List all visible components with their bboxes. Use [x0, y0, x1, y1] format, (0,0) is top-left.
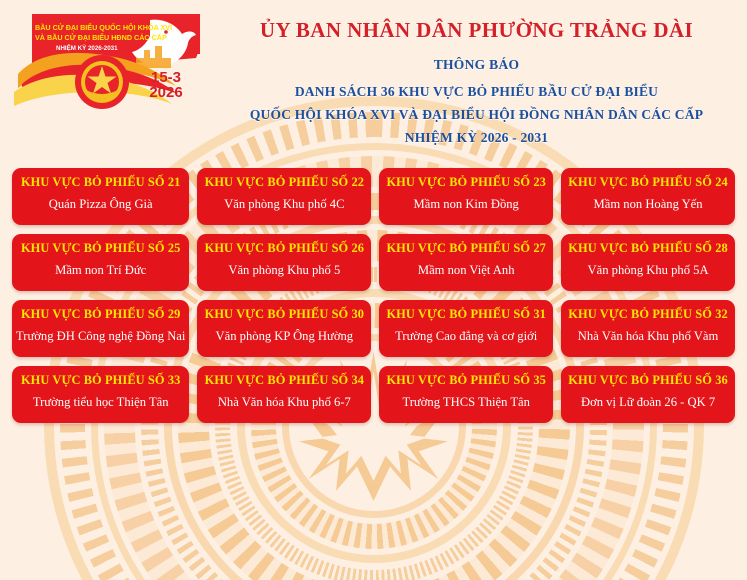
election-emblem-graphic: BẦU CỬ ĐẠI BIỂU QUỐC HỘI KHÓA XVI VÀ BẦU… [0, 0, 208, 120]
polling-station-number: KHU VỰC BỎ PHIẾU SỐ 27 [383, 241, 549, 255]
polling-station-card[interactable]: KHU VỰC BỎ PHIẾU SỐ 31Trường Cao đẳng và… [379, 300, 553, 357]
polling-station-location: Trường THCS Thiện Tân [383, 395, 549, 410]
polling-station-card[interactable]: KHU VỰC BỎ PHIẾU SỐ 26Văn phòng Khu phố … [197, 234, 371, 291]
polling-station-number: KHU VỰC BỎ PHIẾU SỐ 30 [201, 307, 367, 321]
polling-station-number: KHU VỰC BỎ PHIẾU SỐ 36 [565, 373, 731, 387]
polling-station-location: Văn phòng KP Ông Hường [201, 329, 367, 344]
subtitle-line-3: NHIỆM KỲ 2026 - 2031 [212, 130, 741, 146]
polling-station-card[interactable]: KHU VỰC BỎ PHIẾU SỐ 32Nhà Văn hóa Khu ph… [561, 300, 735, 357]
polling-station-number: KHU VỰC BỎ PHIẾU SỐ 28 [565, 241, 731, 255]
logo-line-2: VÀ BẦU CỬ ĐẠI BIỂU HĐND CÁC CẤP [35, 32, 167, 42]
polling-station-location: Trường tiểu học Thiện Tân [16, 395, 185, 410]
polling-station-location: Trường Cao đẳng và cơ giới [383, 329, 549, 344]
header-titles: ỦY BAN NHÂN DÂN PHƯỜNG TRẢNG DÀI THÔNG B… [212, 18, 741, 146]
polling-station-location: Mầm non Việt Anh [383, 263, 549, 278]
polling-station-location: Nhà Văn hóa Khu phố 6-7 [201, 395, 367, 410]
polling-station-card[interactable]: KHU VỰC BỎ PHIẾU SỐ 23Mầm non Kim Đồng [379, 168, 553, 225]
polling-station-number: KHU VỰC BỎ PHIẾU SỐ 32 [565, 307, 731, 321]
polling-station-card[interactable]: KHU VỰC BỎ PHIẾU SỐ 28Văn phòng Khu phố … [561, 234, 735, 291]
polling-station-card[interactable]: KHU VỰC BỎ PHIẾU SỐ 36Đơn vị Lữ đoàn 26 … [561, 366, 735, 423]
polling-station-location: Văn phòng Khu phố 5A [565, 263, 731, 278]
polling-station-location: Văn phòng Khu phố 5 [201, 263, 367, 278]
poster-header: BẦU CỬ ĐẠI BIỂU QUỐC HỘI KHÓA XVI VÀ BẦU… [0, 0, 747, 168]
polling-station-number: KHU VỰC BỎ PHIẾU SỐ 35 [383, 373, 549, 387]
logo-line-1: BẦU CỬ ĐẠI BIỂU QUỐC HỘI KHÓA XVI [35, 22, 172, 32]
polling-station-number: KHU VỰC BỎ PHIẾU SỐ 29 [16, 307, 185, 321]
polling-station-grid: KHU VỰC BỎ PHIẾU SỐ 21Quán Pizza Ông Già… [6, 168, 741, 423]
authority-title: ỦY BAN NHÂN DÂN PHƯỜNG TRẢNG DÀI [212, 18, 741, 44]
subtitle-line-1: DANH SÁCH 36 KHU VỰC BỎ PHIẾU BẦU CỬ ĐẠI… [212, 84, 741, 100]
polling-station-location: Đơn vị Lữ đoàn 26 - QK 7 [565, 395, 731, 410]
polling-station-card[interactable]: KHU VỰC BỎ PHIẾU SỐ 24Mầm non Hoàng Yến [561, 168, 735, 225]
polling-station-card[interactable]: KHU VỰC BỎ PHIẾU SỐ 34Nhà Văn hóa Khu ph… [197, 366, 371, 423]
polling-station-location: Quán Pizza Ông Già [16, 197, 185, 212]
polling-station-number: KHU VỰC BỎ PHIẾU SỐ 24 [565, 175, 731, 189]
polling-station-card[interactable]: KHU VỰC BỎ PHIẾU SỐ 21Quán Pizza Ông Già [12, 168, 189, 225]
polling-station-number: KHU VỰC BỎ PHIẾU SỐ 26 [201, 241, 367, 255]
election-date-year: 2026 [149, 84, 182, 101]
polling-station-card[interactable]: KHU VỰC BỎ PHIẾU SỐ 35Trường THCS Thiện … [379, 366, 553, 423]
polling-station-card[interactable]: KHU VỰC BỎ PHIẾU SỐ 30Văn phòng KP Ông H… [197, 300, 371, 357]
polling-station-number: KHU VỰC BỎ PHIẾU SỐ 25 [16, 241, 185, 255]
election-notice-poster: BẦU CỬ ĐẠI BIỂU QUỐC HỘI KHÓA XVI VÀ BẦU… [0, 0, 747, 580]
polling-station-number: KHU VỰC BỎ PHIẾU SỐ 21 [16, 175, 185, 189]
polling-station-number: KHU VỰC BỎ PHIẾU SỐ 31 [383, 307, 549, 321]
polling-station-location: Trường ĐH Công nghệ Đồng Nai [16, 329, 185, 344]
polling-station-card[interactable]: KHU VỰC BỎ PHIẾU SỐ 33Trường tiểu học Th… [12, 366, 189, 423]
polling-station-card[interactable]: KHU VỰC BỎ PHIẾU SỐ 22Văn phòng Khu phố … [197, 168, 371, 225]
polling-station-card[interactable]: KHU VỰC BỎ PHIẾU SỐ 25Mầm non Trí Đức [12, 234, 189, 291]
polling-station-card[interactable]: KHU VỰC BỎ PHIẾU SỐ 27Mầm non Việt Anh [379, 234, 553, 291]
notice-label: THÔNG BÁO [212, 57, 741, 73]
polling-station-number: KHU VỰC BỎ PHIẾU SỐ 22 [201, 175, 367, 189]
polling-station-number: KHU VỰC BỎ PHIẾU SỐ 34 [201, 373, 367, 387]
polling-station-location: Mầm non Kim Đồng [383, 197, 549, 212]
election-logo-badge: BẦU CỬ ĐẠI BIỂU QUỐC HỘI KHÓA XVI VÀ BẦU… [0, 0, 208, 120]
logo-line-3: NHIỆM KỲ 2026-2031 [56, 44, 118, 52]
polling-station-card[interactable]: KHU VỰC BỎ PHIẾU SỐ 29Trường ĐH Công ngh… [12, 300, 189, 357]
polling-station-number: KHU VỰC BỎ PHIẾU SỐ 23 [383, 175, 549, 189]
polling-station-location: Văn phòng Khu phố 4C [201, 197, 367, 212]
polling-station-location: Mầm non Hoàng Yến [565, 197, 731, 212]
subtitle-line-2: QUỐC HỘI KHÓA XVI VÀ ĐẠI BIỂU HỘI ĐỒNG N… [212, 107, 741, 123]
polling-station-location: Nhà Văn hóa Khu phố Vàm [565, 329, 731, 344]
polling-station-location: Mầm non Trí Đức [16, 263, 185, 278]
polling-station-number: KHU VỰC BỎ PHIẾU SỐ 33 [16, 373, 185, 387]
